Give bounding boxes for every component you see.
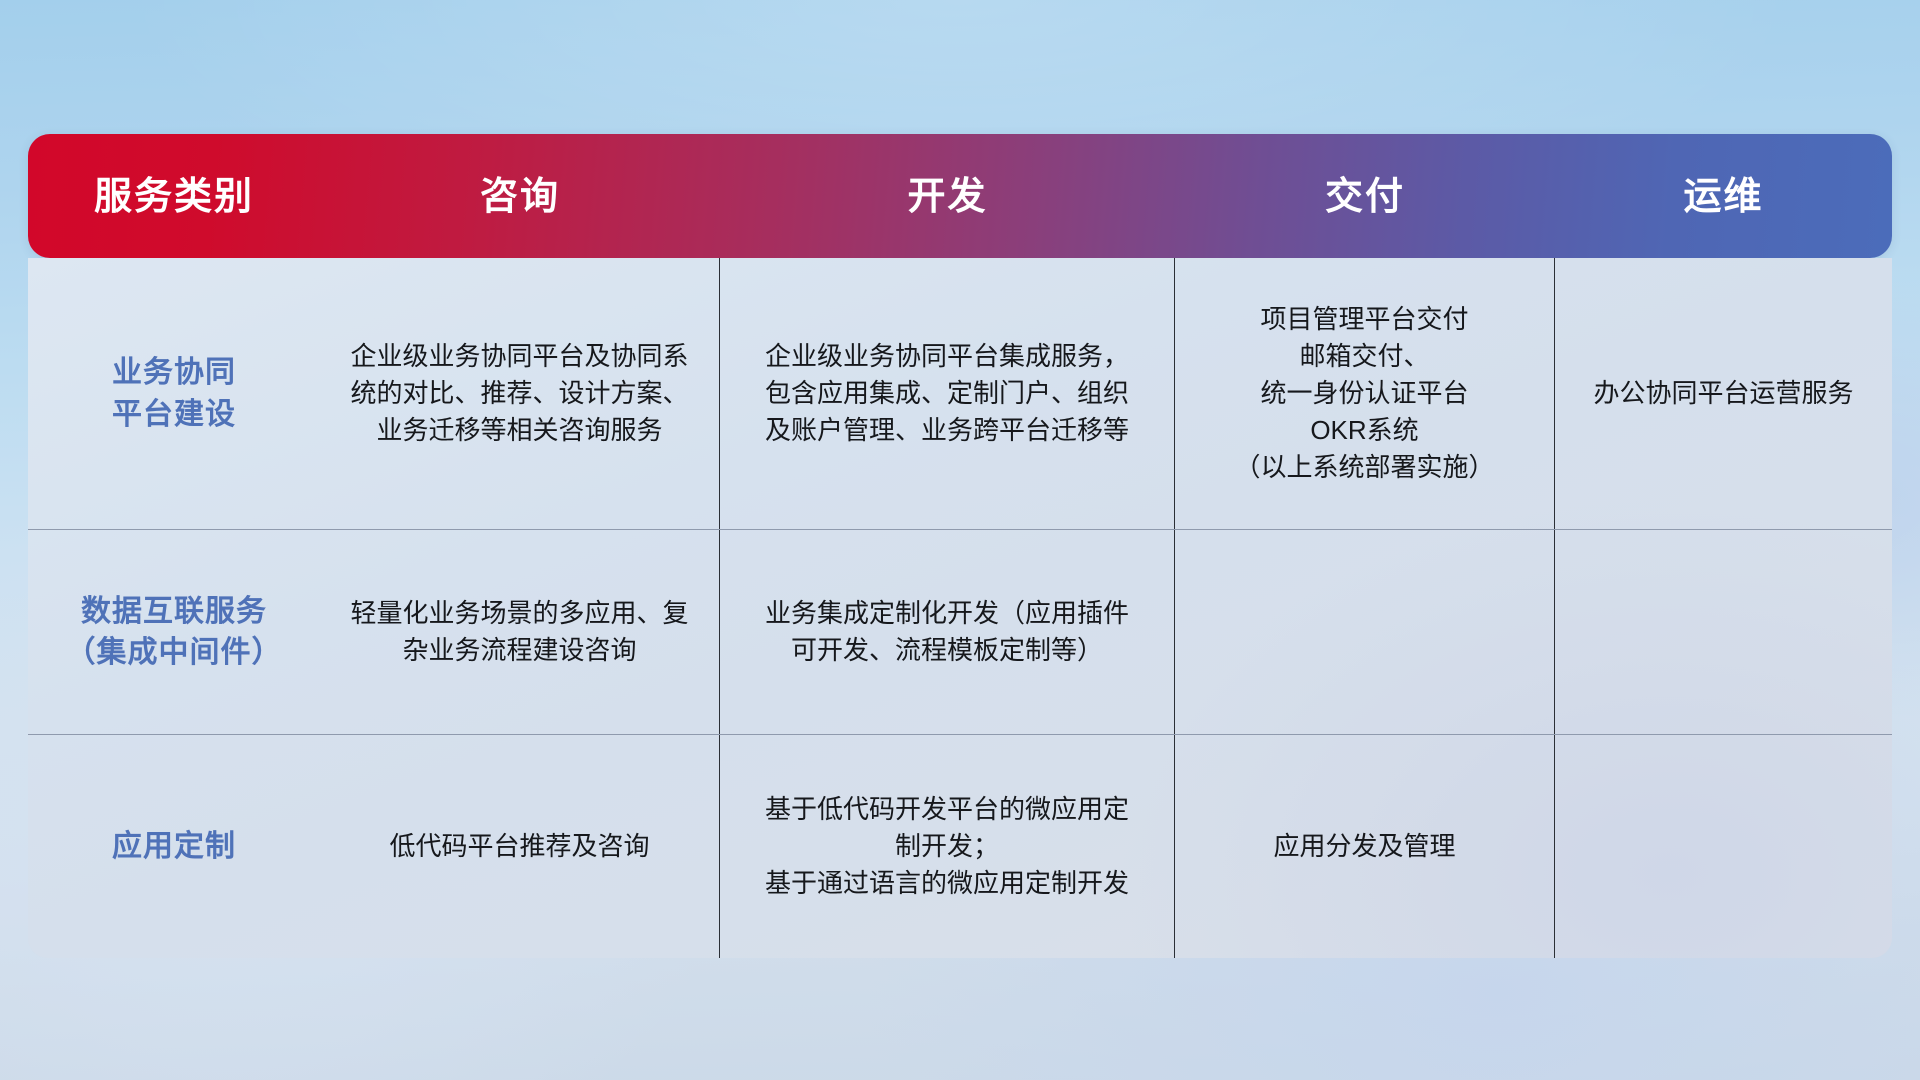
- table-row: 数据互联服务 （集成中间件） 轻量化业务场景的多应用、复 杂业务流程建设咨询 业…: [28, 530, 1892, 735]
- cell-text: 企业级业务协同平台集成服务， 包含应用集成、定制门户、组织 及账户管理、业务跨平…: [765, 338, 1129, 449]
- cell-delivery: [1175, 530, 1555, 734]
- cell-text: 基于低代码开发平台的微应用定 制开发； 基于通过语言的微应用定制开发: [765, 791, 1129, 902]
- cell-text: 企业级业务协同平台及协同系 统的对比、推荐、设计方案、 业务迁移等相关咨询服务: [350, 338, 688, 449]
- column-header-operations: 运维: [1555, 176, 1892, 216]
- cell-text: 应用分发及管理: [1273, 828, 1455, 865]
- cell-consulting: 低代码平台推荐及咨询: [320, 735, 720, 958]
- cell-operations: 办公协同平台运营服务: [1555, 258, 1892, 529]
- cell-text: 低代码平台推荐及咨询: [389, 828, 649, 865]
- column-header-development: 开发: [720, 176, 1175, 216]
- cell-development: 业务集成定制化开发（应用插件 可开发、流程模板定制等）: [720, 530, 1175, 734]
- cell-development: 基于低代码开发平台的微应用定 制开发； 基于通过语言的微应用定制开发: [720, 735, 1175, 958]
- table-body: 业务协同 平台建设 企业级业务协同平台及协同系 统的对比、推荐、设计方案、 业务…: [28, 258, 1892, 958]
- table-row: 业务协同 平台建设 企业级业务协同平台及协同系 统的对比、推荐、设计方案、 业务…: [28, 258, 1892, 530]
- category-label: 应用定制: [112, 826, 236, 867]
- cell-delivery: 项目管理平台交付 邮箱交付、 统一身份认证平台 OKR系统 （以上系统部署实施）: [1175, 258, 1555, 529]
- category-label: 业务协同 平台建设: [112, 352, 236, 435]
- column-header-consulting: 咨询: [320, 176, 720, 216]
- column-header-delivery: 交付: [1175, 176, 1555, 216]
- cell-text: 轻量化业务场景的多应用、复 杂业务流程建设咨询: [350, 595, 688, 669]
- cell-text: 业务集成定制化开发（应用插件 可开发、流程模板定制等）: [765, 595, 1129, 669]
- cell-category: 业务协同 平台建设: [28, 258, 320, 529]
- cell-consulting: 企业级业务协同平台及协同系 统的对比、推荐、设计方案、 业务迁移等相关咨询服务: [320, 258, 720, 529]
- category-label: 数据互联服务 （集成中间件）: [66, 591, 283, 674]
- cell-delivery: 应用分发及管理: [1175, 735, 1555, 958]
- cell-text: 办公协同平台运营服务: [1593, 375, 1853, 412]
- table-header-row: 服务类别 咨询 开发 交付 运维: [28, 134, 1892, 258]
- cell-text: 项目管理平台交付 邮箱交付、 统一身份认证平台 OKR系统 （以上系统部署实施）: [1234, 301, 1494, 486]
- cell-operations: [1555, 530, 1892, 734]
- column-header-category: 服务类别: [28, 176, 320, 216]
- service-matrix-table: 服务类别 咨询 开发 交付 运维 业务协同 平台建设 企业级业务协同平台及协同系…: [28, 134, 1892, 958]
- cell-category: 应用定制: [28, 735, 320, 958]
- table-row: 应用定制 低代码平台推荐及咨询 基于低代码开发平台的微应用定 制开发； 基于通过…: [28, 735, 1892, 958]
- cell-development: 企业级业务协同平台集成服务， 包含应用集成、定制门户、组织 及账户管理、业务跨平…: [720, 258, 1175, 529]
- cell-operations: [1555, 735, 1892, 958]
- cell-consulting: 轻量化业务场景的多应用、复 杂业务流程建设咨询: [320, 530, 720, 734]
- cell-category: 数据互联服务 （集成中间件）: [28, 530, 320, 734]
